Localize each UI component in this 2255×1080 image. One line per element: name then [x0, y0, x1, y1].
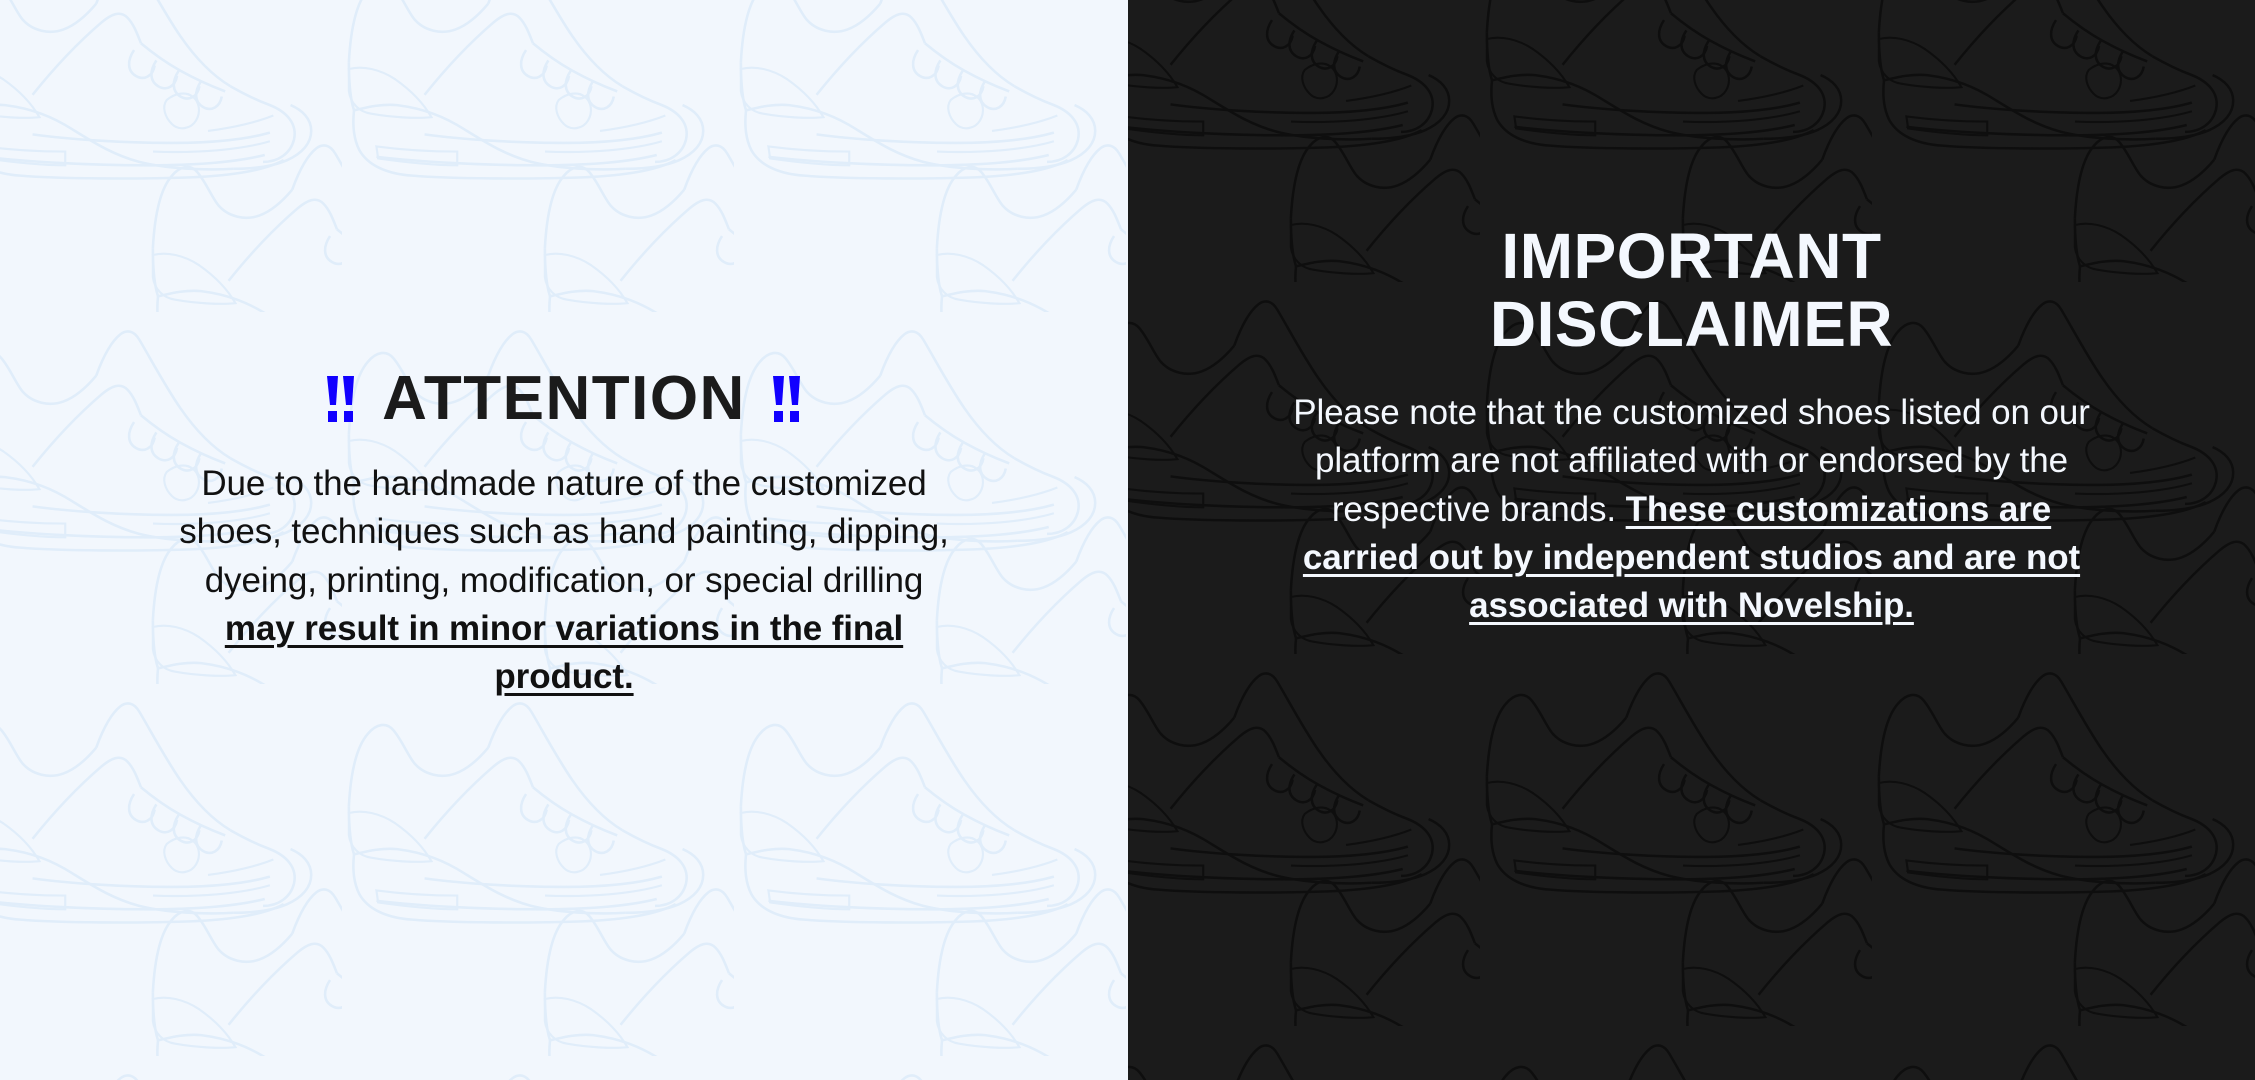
attention-heading: ATTENTION	[326, 368, 802, 430]
attention-body-emphasis: may result in minor variations in the fi…	[225, 609, 903, 696]
disclaimer-panel: IMPORTANT DISCLAIMER Please note that th…	[1128, 0, 2255, 1080]
double-exclamation-icon-left	[326, 375, 356, 423]
double-exclamation-icon-right	[772, 375, 802, 423]
dual-panel-banner: ATTENTION Due to the handmade nature of …	[0, 0, 2255, 1080]
disclaimer-content: IMPORTANT DISCLAIMER Please note that th…	[1128, 0, 2255, 630]
disclaimer-heading-line-1: IMPORTANT	[1501, 220, 1881, 292]
attention-body: Due to the handmade nature of the custom…	[169, 430, 959, 701]
attention-content: ATTENTION Due to the handmade nature of …	[0, 0, 1128, 701]
attention-heading-label: ATTENTION	[382, 368, 746, 430]
attention-body-plain: Due to the handmade nature of the custom…	[179, 464, 949, 600]
disclaimer-body: Please note that the customized shoes li…	[1292, 359, 2092, 630]
disclaimer-heading: IMPORTANT DISCLAIMER	[1262, 222, 2122, 359]
attention-panel: ATTENTION Due to the handmade nature of …	[0, 0, 1128, 1080]
disclaimer-heading-line-2: DISCLAIMER	[1490, 288, 1893, 360]
